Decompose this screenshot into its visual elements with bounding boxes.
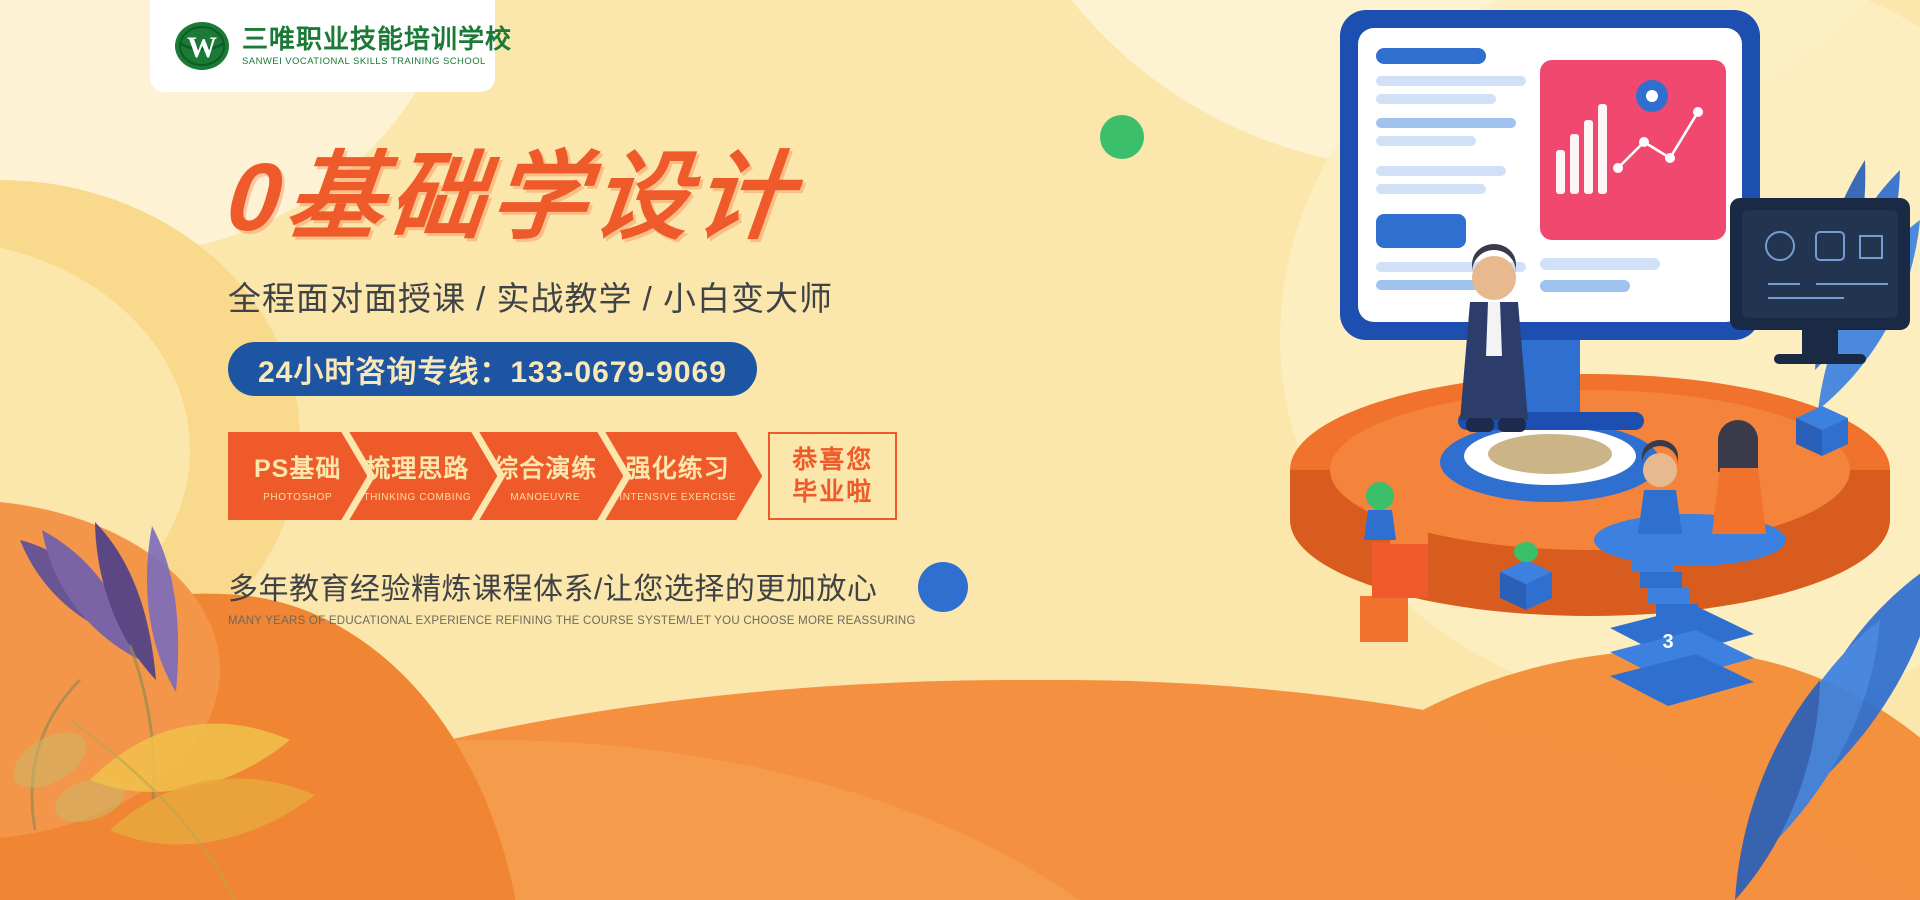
step-label-cn: 梳理思路 [365, 449, 469, 485]
step-label-en: MANOEUVRE [510, 492, 580, 503]
stacked-cards: 3 [1610, 606, 1754, 706]
step-label-en: PHOTOSHOP [263, 492, 332, 503]
logo-name-en: SANWEI VOCATIONAL SKILLS TRAINING SCHOOL [242, 56, 512, 67]
designer-at-monitor-illustration: 3 [1220, 0, 1920, 900]
step-intensive-exercise[interactable]: 强化练习 INTENSIVE EXERCISE [605, 432, 762, 520]
hero-content: 0基础学设计 全程面对面授课 / 实战教学 / 小白变大师 24小时咨询专线：1… [228, 150, 988, 627]
dot-green [1100, 115, 1144, 159]
platform-ring [1440, 422, 1660, 502]
step-graduation[interactable]: 恭喜您 毕业啦 [768, 432, 897, 520]
step-thinking-combing[interactable]: 梳理思路 THINKING COMBING [349, 432, 497, 520]
tv-screen [1730, 198, 1910, 364]
step-label-en: INTENSIVE EXERCISE [619, 492, 736, 503]
svg-text:3: 3 [1662, 631, 1673, 653]
step-label-cn: PS基础 [254, 449, 341, 485]
step-manoeuvre[interactable]: 综合演练 MANOEUVRE [479, 432, 623, 520]
tagline-cn: 多年教育经验精炼课程体系/让您选择的更加放心 [228, 564, 988, 608]
logo-name-cn: 三唯职业技能培训学校 [242, 25, 512, 54]
hero-subheadline: 全程面对面授课 / 实战教学 / 小白变大师 [228, 272, 988, 320]
w-monogram-oval-icon: W [174, 21, 230, 71]
hero-headline: 0基础学设计 [223, 150, 993, 246]
large-monitor [1340, 10, 1760, 430]
step-label-cn: 强化练习 [626, 449, 730, 485]
graduation-line-1: 恭喜您 [792, 444, 873, 476]
tagline: 多年教育经验精炼课程体系/让您选择的更加放心 MANY YEARS OF EDU… [228, 564, 988, 627]
logo-card[interactable]: W 三唯职业技能培训学校 SANWEI VOCATIONAL SKILLS TR… [150, 0, 495, 92]
step-label-en: THINKING COMBING [363, 492, 471, 503]
course-steps: PS基础 PHOTOSHOP 梳理思路 THINKING COMBING 综合演… [228, 432, 988, 520]
consult-hotline-button[interactable]: 24小时咨询专线：133-0679-9069 [228, 342, 757, 396]
tagline-en: MANY YEARS OF EDUCATIONAL EXPERIENCE REF… [228, 615, 988, 627]
figure-small-left [1364, 482, 1396, 540]
graduation-line-2: 毕业啦 [792, 476, 873, 508]
step-ps-basics[interactable]: PS基础 PHOTOSHOP [228, 432, 367, 520]
svg-text:W: W [187, 31, 217, 64]
step-label-cn: 综合演练 [493, 449, 597, 485]
